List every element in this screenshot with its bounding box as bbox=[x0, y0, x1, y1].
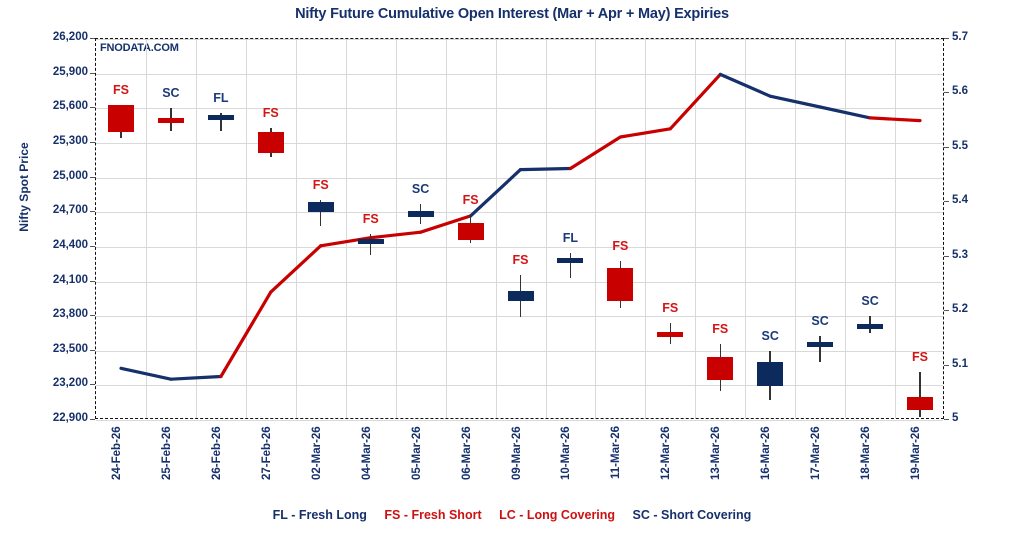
y-axis-left-tick-label: 24,400 bbox=[22, 239, 88, 251]
candlestick-body bbox=[408, 211, 434, 217]
candlestick-body bbox=[807, 342, 833, 347]
y-axis-left-tick-label: 25,000 bbox=[22, 170, 88, 182]
y-axis-right-tick-label: 5.2 bbox=[952, 303, 992, 315]
candlestick-signal-tag: SC bbox=[151, 86, 191, 100]
x-axis-tick-label: 05-Mar-26 bbox=[411, 426, 429, 496]
candlestick-body bbox=[557, 258, 583, 263]
gridline-horizontal bbox=[96, 420, 943, 421]
y-axis-left-tick-label: 25,600 bbox=[22, 100, 88, 112]
candlestick-body bbox=[108, 105, 134, 133]
candlestick-body bbox=[857, 324, 883, 329]
x-axis-tick-label: 18-Mar-26 bbox=[860, 426, 878, 496]
candlestick-signal-tag: FS bbox=[101, 83, 141, 97]
candlestick: FL bbox=[557, 39, 583, 420]
candlestick: FS bbox=[258, 39, 284, 420]
x-axis-tick-label: 10-Mar-26 bbox=[560, 426, 578, 496]
candlestick: FS bbox=[607, 39, 633, 420]
candlestick-signal-tag: FS bbox=[351, 212, 391, 226]
candlestick: FL bbox=[208, 39, 234, 420]
y-axis-left-tick-label: 25,900 bbox=[22, 66, 88, 78]
y-axis-right-tick-label: 5.4 bbox=[952, 194, 992, 206]
candlestick-body bbox=[158, 118, 184, 123]
candlestick-signal-tag: FS bbox=[600, 239, 640, 253]
plot-area: FNODATA.COM FSSCFLFSFSFSSCFSFSFLFSFSFSSC… bbox=[95, 38, 944, 419]
candlestick: FS bbox=[308, 39, 334, 420]
legend-item-fl: FL - Fresh Long bbox=[273, 508, 367, 522]
candlestick: FS bbox=[358, 39, 384, 420]
y-axis-right-tick-label: 5.7 bbox=[952, 31, 992, 43]
candlestick-body bbox=[208, 115, 234, 120]
x-axis-tick-label: 26-Feb-26 bbox=[211, 426, 229, 496]
legend-item-sc: SC - Short Covering bbox=[633, 508, 752, 522]
candlestick-signal-tag: SC bbox=[800, 314, 840, 328]
y-axis-left-tick-label: 22,900 bbox=[22, 412, 88, 424]
candlestick: FS bbox=[458, 39, 484, 420]
candlestick-wick bbox=[919, 372, 921, 417]
y-axis-left-tick-label: 24,700 bbox=[22, 204, 88, 216]
legend-item-fs: FS - Fresh Short bbox=[384, 508, 481, 522]
candlestick-body bbox=[358, 239, 384, 244]
page-title: Nifty Future Cumulative Open Interest (M… bbox=[0, 6, 1024, 22]
candlestick-body bbox=[258, 132, 284, 153]
candlestick-wick bbox=[819, 336, 821, 363]
candlestick-body bbox=[707, 357, 733, 380]
x-axis-tick-label: 09-Mar-26 bbox=[511, 426, 529, 496]
x-axis-tick-label: 24-Feb-26 bbox=[111, 426, 129, 496]
candlestick: FS bbox=[508, 39, 534, 420]
candlestick-body bbox=[458, 223, 484, 240]
candlestick-signal-tag: FS bbox=[451, 193, 491, 207]
y-axis-left-tick-label: 23,500 bbox=[22, 343, 88, 355]
x-axis-tick-label: 25-Feb-26 bbox=[161, 426, 179, 496]
candlestick: SC bbox=[158, 39, 184, 420]
y-axis-left-tick-label: 23,800 bbox=[22, 308, 88, 320]
legend: FL - Fresh Long FS - Fresh Short LC - Lo… bbox=[0, 508, 1024, 522]
x-axis-tick-label: 17-Mar-26 bbox=[810, 426, 828, 496]
candlestick-signal-tag: FS bbox=[650, 301, 690, 315]
y-axis-right-tick-label: 5.3 bbox=[952, 249, 992, 261]
x-axis-tick-label: 27-Feb-26 bbox=[261, 426, 279, 496]
y-axis-right-tick-label: 5.5 bbox=[952, 140, 992, 152]
x-axis-tick-label: 16-Mar-26 bbox=[760, 426, 778, 496]
x-axis-tick-label: 04-Mar-26 bbox=[361, 426, 379, 496]
candlestick-signal-tag: SC bbox=[850, 294, 890, 308]
y-axis-right-tick-label: 5 bbox=[952, 412, 992, 424]
candlestick-body bbox=[308, 202, 334, 212]
candlestick-body bbox=[757, 362, 783, 386]
x-axis-tick-label: 02-Mar-26 bbox=[311, 426, 329, 496]
x-axis-tick-label: 11-Mar-26 bbox=[610, 426, 628, 496]
y-axis-right-tick-label: 5.1 bbox=[952, 358, 992, 370]
y-axis-left-tick-label: 23,200 bbox=[22, 377, 88, 389]
candlestick-signal-tag: FS bbox=[700, 322, 740, 336]
candlestick-signal-tag: FS bbox=[501, 253, 541, 267]
candlestick: SC bbox=[857, 39, 883, 420]
candlestick-signal-tag: FL bbox=[201, 91, 241, 105]
candlestick-wick bbox=[370, 234, 372, 255]
y-axis-left-tick-mark bbox=[90, 419, 95, 420]
candlestick-signal-tag: FS bbox=[900, 350, 940, 364]
x-axis-tick-label: 06-Mar-26 bbox=[461, 426, 479, 496]
chart-page: Nifty Future Cumulative Open Interest (M… bbox=[0, 0, 1024, 537]
candlestick-signal-tag: SC bbox=[750, 329, 790, 343]
y-axis-left-tick-label: 24,100 bbox=[22, 274, 88, 286]
candlestick-signal-tag: FS bbox=[301, 178, 341, 192]
y-axis-left-tick-label: 25,300 bbox=[22, 135, 88, 147]
candlestick-signal-tag: SC bbox=[401, 182, 441, 196]
y-axis-right-tick-label: 5.6 bbox=[952, 85, 992, 97]
candlestick: FS bbox=[108, 39, 134, 420]
x-axis-tick-label: 12-Mar-26 bbox=[660, 426, 678, 496]
candlestick-body bbox=[907, 397, 933, 410]
candlestick-signal-tag: FL bbox=[550, 231, 590, 245]
x-axis-tick-label: 13-Mar-26 bbox=[710, 426, 728, 496]
candlestick: SC bbox=[807, 39, 833, 420]
x-axis-tick-label: 19-Mar-26 bbox=[910, 426, 928, 496]
candlestick-body bbox=[508, 291, 534, 301]
candlestick: FS bbox=[907, 39, 933, 420]
candlestick: FS bbox=[707, 39, 733, 420]
candlestick-wick bbox=[570, 253, 572, 278]
candlestick-body bbox=[657, 332, 683, 337]
candlestick-body bbox=[607, 268, 633, 302]
candlestick: SC bbox=[757, 39, 783, 420]
candlestick: FS bbox=[657, 39, 683, 420]
candlestick-signal-tag: FS bbox=[251, 106, 291, 120]
candlestick: SC bbox=[408, 39, 434, 420]
legend-item-lc: LC - Long Covering bbox=[499, 508, 615, 522]
y-axis-left-tick-label: 26,200 bbox=[22, 31, 88, 43]
